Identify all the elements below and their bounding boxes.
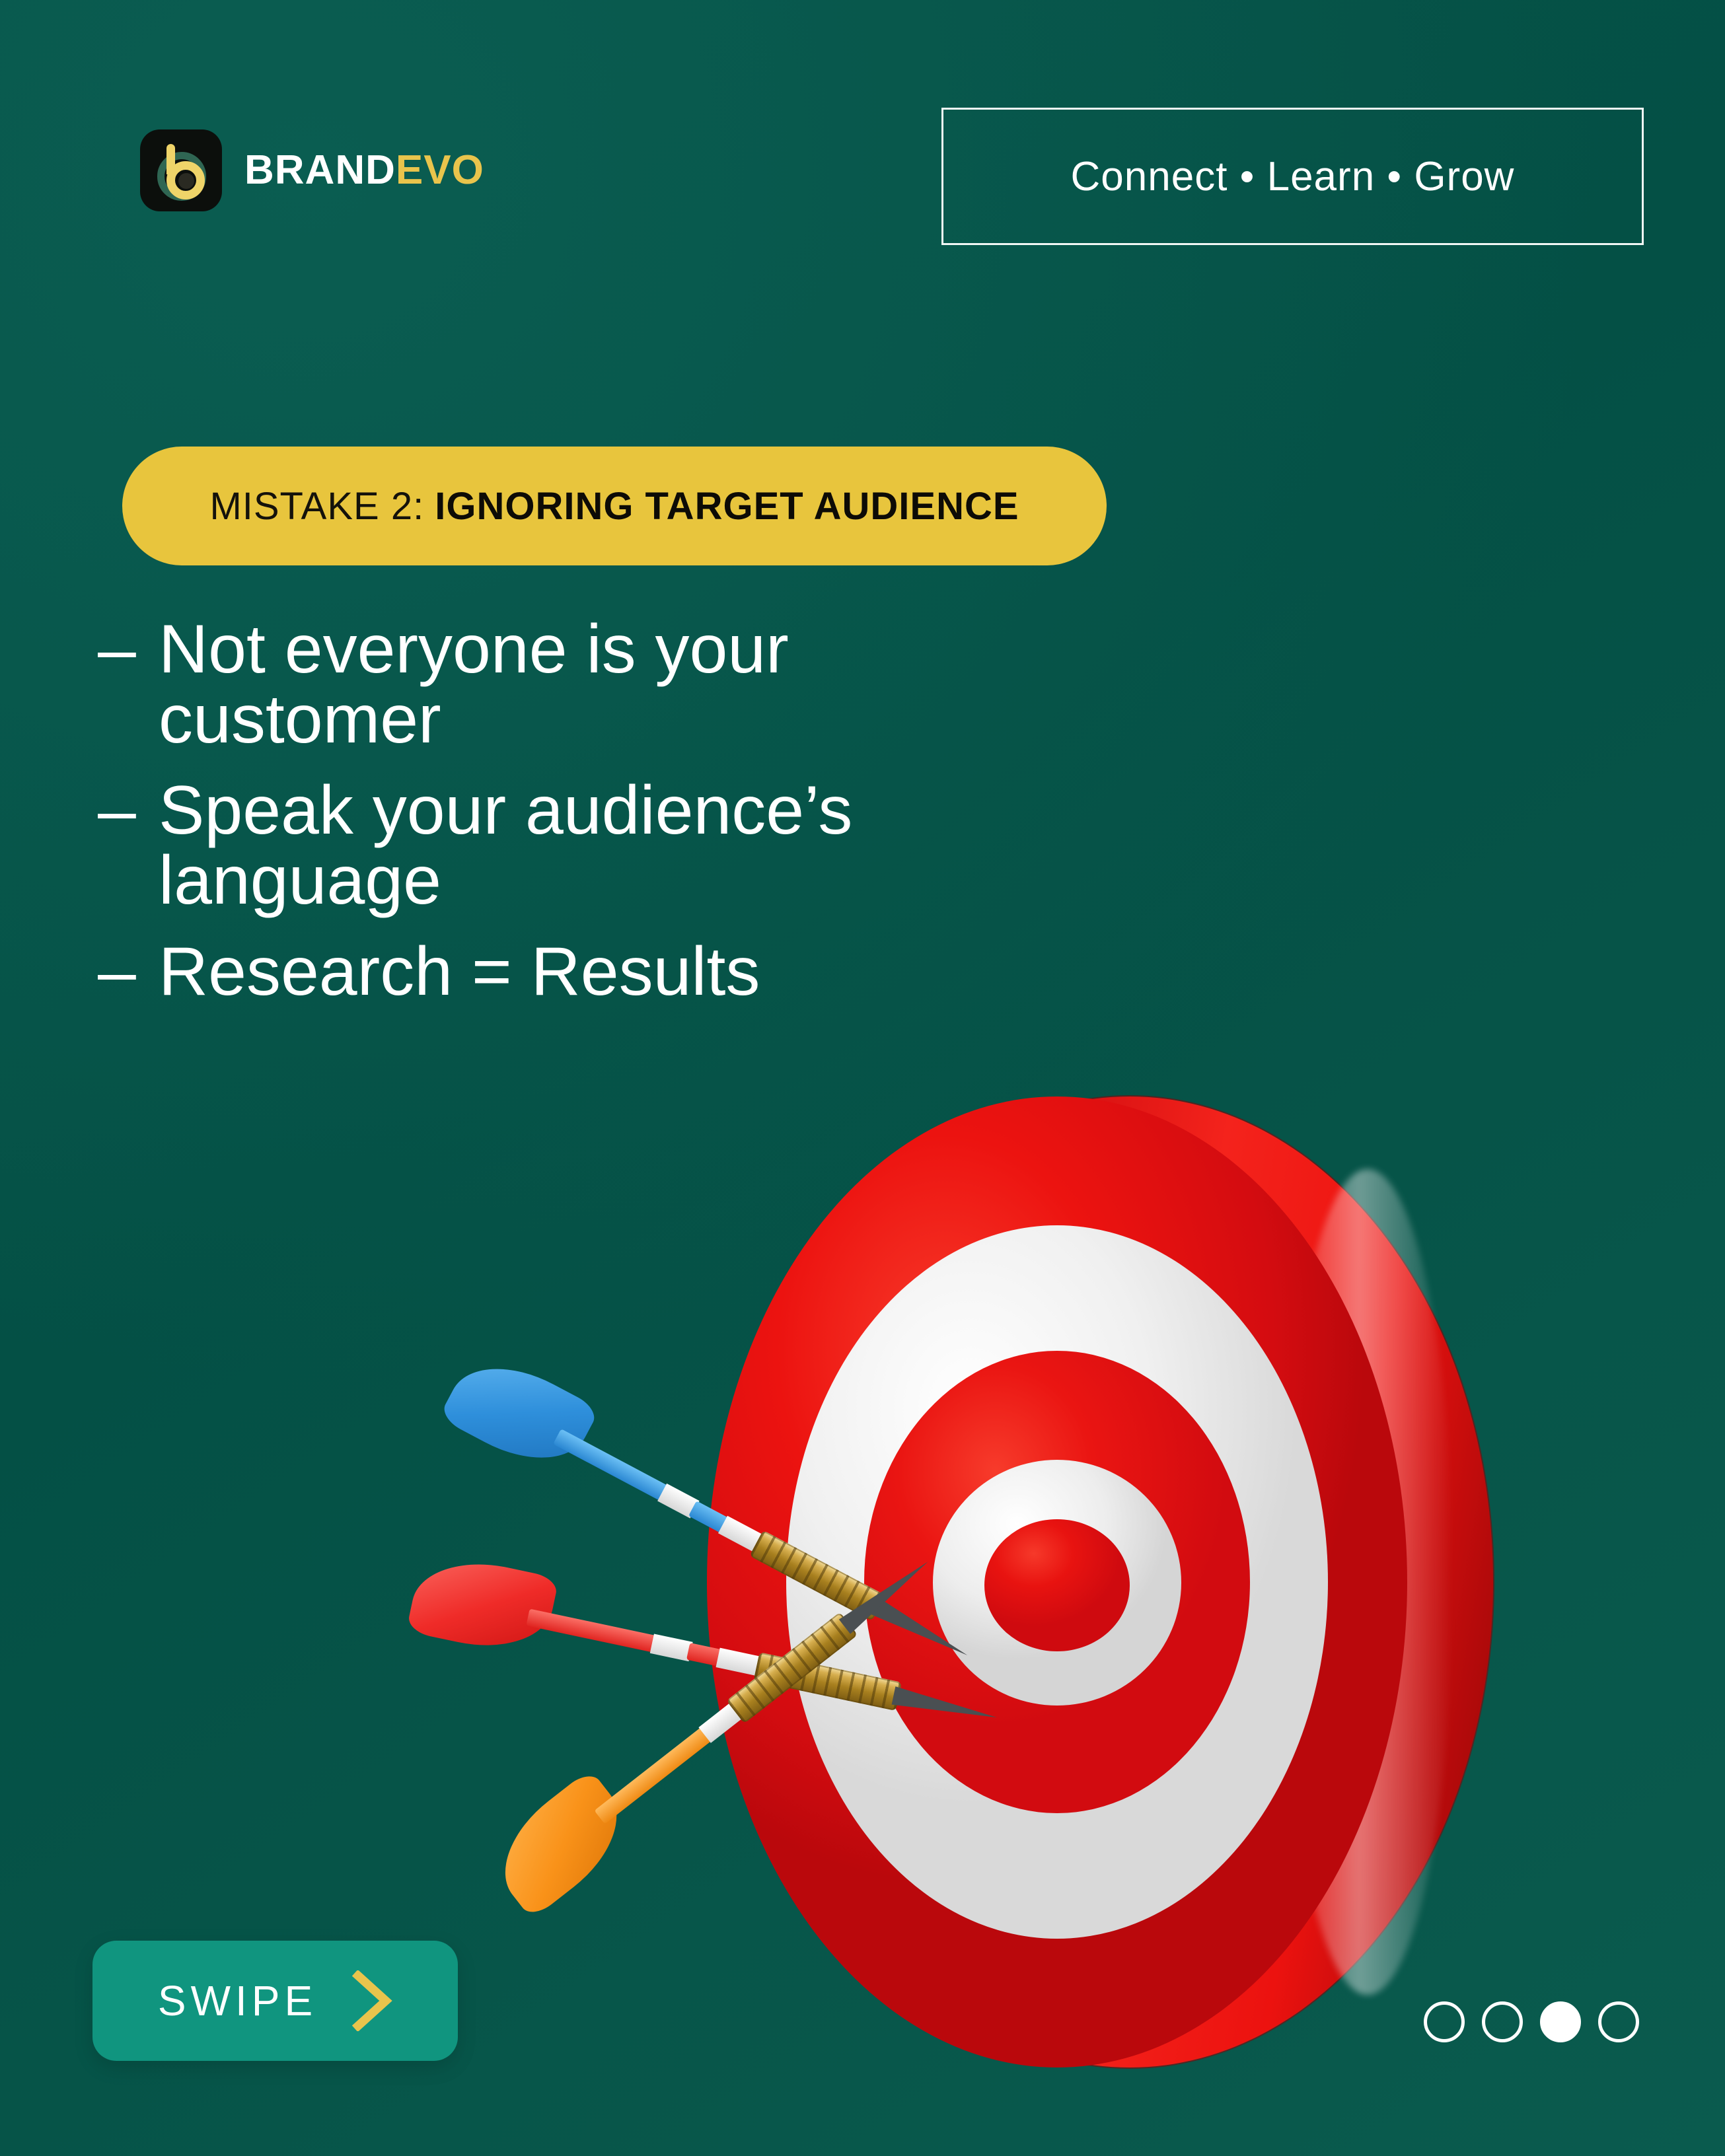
dart-blue-shaft bbox=[553, 1429, 672, 1503]
bullet-dash-icon: – bbox=[98, 775, 159, 845]
dartboard-illustration bbox=[700, 1090, 1500, 2120]
bullet-dash-icon: – bbox=[98, 614, 159, 684]
pagination-dot-2[interactable] bbox=[1482, 2001, 1523, 2042]
pagination-dots[interactable] bbox=[1424, 2001, 1639, 2042]
slide-canvas: BRANDEVO Connect • Learn • Grow MISTAKE … bbox=[0, 0, 1725, 2156]
logo-b-dot-shape bbox=[178, 173, 194, 189]
tagline-text: Connect • Learn • Grow bbox=[1071, 153, 1515, 200]
list-item: – Research = Results bbox=[98, 937, 1485, 1007]
bullet-dash-icon: – bbox=[98, 937, 159, 1007]
swipe-button[interactable]: SWIPE bbox=[92, 1941, 458, 2061]
pagination-dot-1[interactable] bbox=[1424, 2001, 1465, 2042]
dartboard-bullseye bbox=[984, 1519, 1130, 1651]
list-item: – Not everyone is your customer bbox=[98, 614, 1485, 754]
chevron-right-icon bbox=[351, 1970, 392, 2031]
logo-b-stem-shape bbox=[166, 144, 175, 174]
brandevo-b-logo-icon bbox=[140, 129, 222, 211]
badge-prefix: MISTAKE 2: bbox=[209, 484, 424, 528]
dart-red-shaft bbox=[526, 1608, 659, 1653]
wordmark-primary: BRAND bbox=[244, 147, 396, 193]
list-item-text: Speak your audience’s language bbox=[159, 775, 1083, 916]
list-item: – Speak your audience’s language bbox=[98, 775, 1485, 916]
brand-lockup[interactable]: BRANDEVO bbox=[140, 129, 484, 211]
pagination-dot-4[interactable] bbox=[1598, 2001, 1639, 2042]
tagline-box: Connect • Learn • Grow bbox=[941, 108, 1644, 245]
list-item-text: Not everyone is your customer bbox=[159, 614, 1083, 754]
dart-orange-flight bbox=[481, 1769, 642, 1920]
list-item-text: Research = Results bbox=[159, 937, 760, 1007]
badge-headline: IGNORING TARGET AUDIENCE bbox=[435, 484, 1019, 528]
dart-blue-flight bbox=[439, 1344, 601, 1483]
wordmark-accent: EVO bbox=[396, 147, 484, 193]
bullet-list: – Not everyone is your customer – Speak … bbox=[98, 614, 1485, 1028]
header-bar: BRANDEVO Connect • Learn • Grow bbox=[0, 0, 1725, 277]
brand-wordmark: BRANDEVO bbox=[244, 150, 484, 191]
dart-orange-shaft bbox=[594, 1725, 714, 1824]
mistake-badge: MISTAKE 2: IGNORING TARGET AUDIENCE bbox=[122, 447, 1107, 565]
dart-red-flight bbox=[406, 1550, 560, 1660]
swipe-button-label: SWIPE bbox=[158, 1976, 317, 2025]
pagination-dot-3[interactable] bbox=[1540, 2001, 1581, 2042]
